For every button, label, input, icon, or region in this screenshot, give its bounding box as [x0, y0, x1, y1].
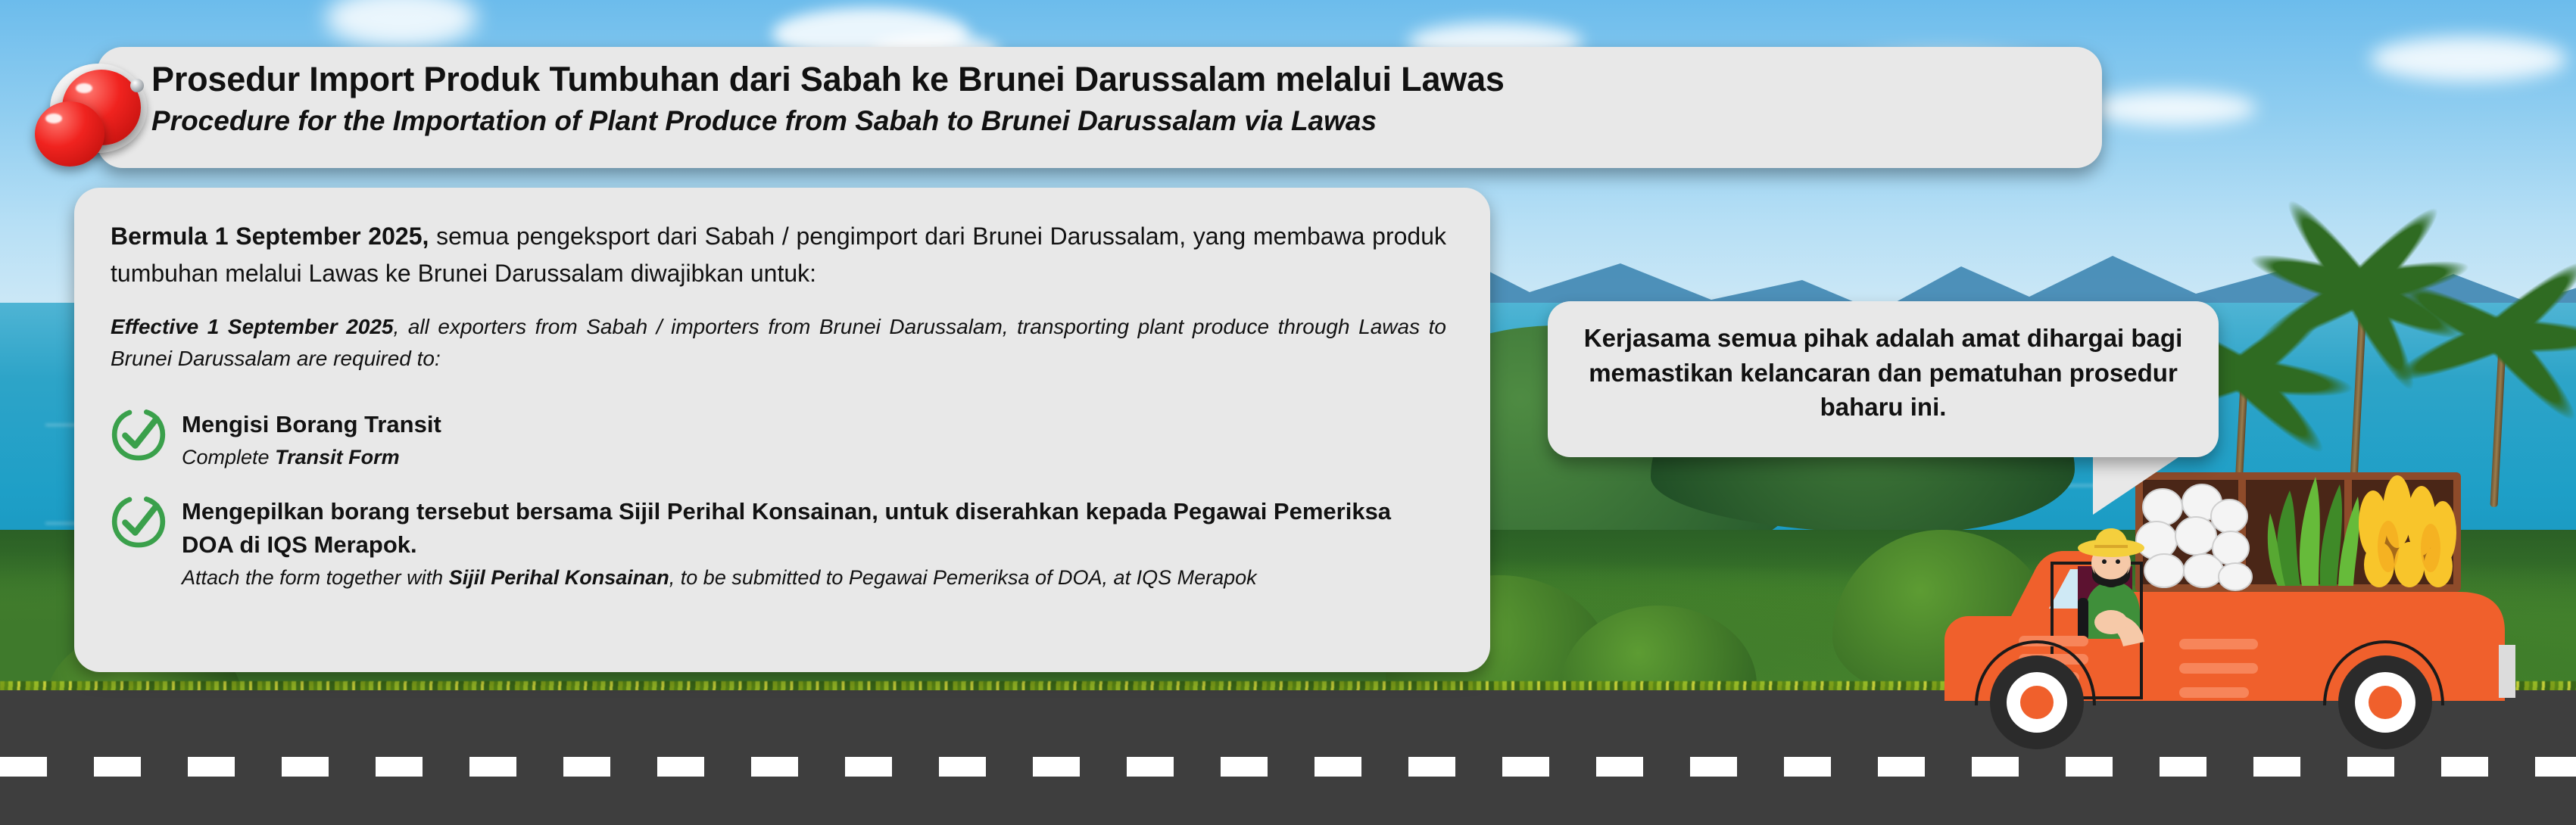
pushpin-gloss — [45, 114, 62, 123]
main-content-card: Bermula 1 September 2025, semua pengeksp… — [74, 188, 1490, 672]
intro-paragraph-en: Effective 1 September 2025, all exporter… — [111, 311, 1446, 375]
page-subtitle: Procedure for the Importation of Plant P… — [151, 104, 2102, 138]
checklist-en-plain: Attach the form together with — [182, 566, 449, 589]
intro-paragraph-ms: Bermula 1 September 2025, semua pengeksp… — [111, 218, 1446, 291]
intro-ms-effective-date: Bermula 1 September 2025, — [111, 223, 429, 250]
checklist-en-bold: Sijil Perihal Konsainan — [449, 566, 669, 589]
green-check-circle-icon — [111, 493, 182, 549]
speech-bubble-text: Kerjasama semua pihak adalah amat diharg… — [1573, 321, 2193, 425]
pushpin-stud — [130, 79, 144, 92]
checklist: Mengisi Borang Transit Complete Transit … — [111, 405, 1446, 592]
list-item-text: Mengepilkan borang tersebut bersama Siji… — [182, 492, 1446, 592]
orange-pickup-truck-with-produce-icon — [1929, 451, 2576, 769]
intro-en-effective-date: Effective 1 September 2025 — [111, 315, 393, 338]
checklist-item-en: Complete Transit Form — [182, 443, 1446, 472]
list-item: Mengisi Borang Transit Complete Transit … — [111, 405, 1446, 472]
speech-bubble-tail — [2093, 450, 2190, 515]
cloud — [2090, 91, 2256, 126]
page-title: Prosedur Import Produk Tumbuhan dari Sab… — [151, 59, 2102, 101]
checklist-item-ms: Mengisi Borang Transit — [182, 408, 1446, 441]
checklist-item-en: Attach the form together with Sijil Peri… — [182, 563, 1446, 592]
pushpin-gloss — [76, 83, 92, 93]
pushpin-head-small — [35, 101, 104, 167]
checklist-en-bold: Transit Form — [275, 446, 400, 469]
list-item: Mengepilkan borang tersebut bersama Siji… — [111, 492, 1446, 592]
list-item-text: Mengisi Borang Transit Complete Transit … — [182, 405, 1446, 472]
checklist-en-plain: Complete — [182, 446, 275, 469]
checklist-en-tail: , to be submitted to Pegawai Pemeriksa o… — [669, 566, 1257, 589]
speech-bubble: Kerjasama semua pihak adalah amat diharg… — [1548, 301, 2219, 457]
title-card: Prosedur Import Produk Tumbuhan dari Sab… — [97, 47, 2102, 168]
checklist-item-ms: Mengepilkan borang tersebut bersama Siji… — [182, 495, 1446, 562]
green-check-circle-icon — [111, 406, 182, 462]
red-pushpin-icon — [23, 59, 167, 180]
cloud — [2370, 36, 2567, 82]
